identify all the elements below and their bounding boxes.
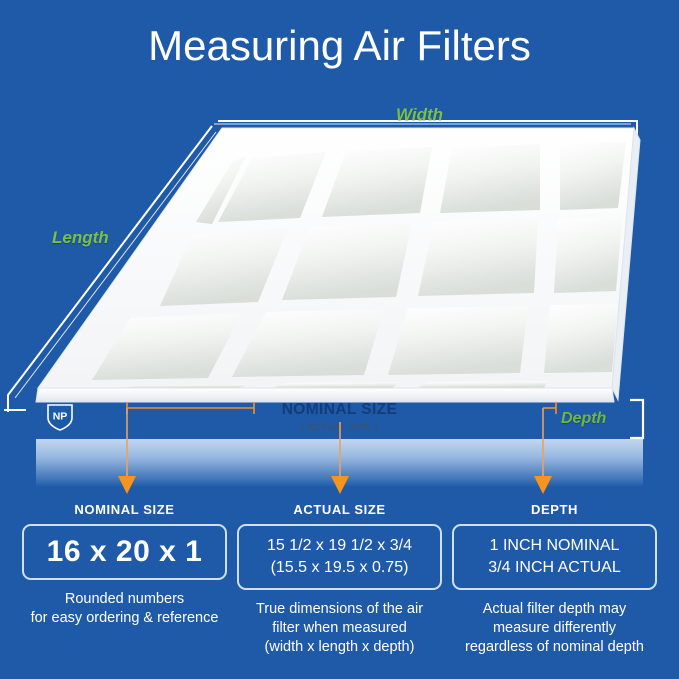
infographic-root: Measuring Air Filters <box>0 0 679 679</box>
page-title: Measuring Air Filters <box>0 20 679 72</box>
arrow-depth <box>534 408 552 494</box>
filter-perspective-svg <box>0 110 679 440</box>
info-columns: NOMINAL SIZE 16 x 20 x 1 Rounded numbers… <box>0 502 679 657</box>
column-value-box: 1 INCH NOMINAL 3/4 INCH ACTUAL <box>452 524 657 590</box>
column-depth: DEPTH 1 INCH NOMINAL 3/4 INCH ACTUAL Act… <box>452 502 657 657</box>
column-note: Rounded numbersfor easy ordering & refer… <box>22 590 227 628</box>
column-value-box: 15 1/2 x 19 1/2 x 3/4 (15.5 x 19.5 x 0.7… <box>237 524 442 590</box>
column-heading: NOMINAL SIZE <box>22 502 227 517</box>
column-value-line: (15.5 x 19.5 x 0.75) <box>271 557 409 579</box>
column-heading: ACTUAL SIZE <box>237 502 442 517</box>
column-value-line: 1 INCH NOMINAL <box>490 535 620 557</box>
column-heading: DEPTH <box>452 502 657 517</box>
column-note: Actual filter depth maymeasure different… <box>452 600 657 657</box>
column-actual-size: ACTUAL SIZE 15 1/2 x 19 1/2 x 3/4 (15.5 … <box>237 502 442 657</box>
connector-arrows <box>0 398 679 508</box>
column-note: True dimensions of the airfilter when me… <box>237 600 442 657</box>
column-value-box: 16 x 20 x 1 <box>22 524 227 580</box>
width-label: Width <box>396 105 443 125</box>
column-value-line: 3/4 INCH ACTUAL <box>488 557 620 579</box>
column-value-line: 15 1/2 x 19 1/2 x 3/4 <box>267 535 412 557</box>
arrow-actual <box>331 422 349 494</box>
column-nominal-size: NOMINAL SIZE 16 x 20 x 1 Rounded numbers… <box>22 502 227 657</box>
length-label: Length <box>52 228 109 248</box>
air-filter-illustration <box>0 110 679 440</box>
column-value-line: 16 x 20 x 1 <box>47 535 203 569</box>
depth-side-bracket <box>630 400 643 438</box>
arrow-nominal <box>118 408 136 494</box>
